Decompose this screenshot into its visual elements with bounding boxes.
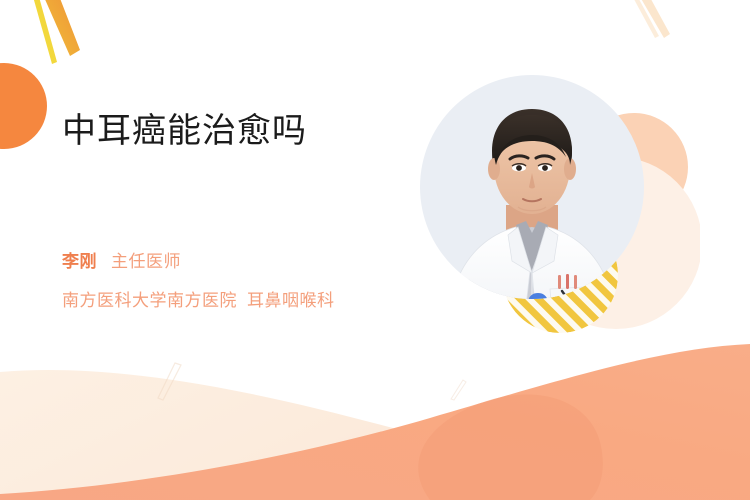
doctor-department: 耳鼻咽喉科 <box>247 291 335 310</box>
wave-salmon-lobe <box>418 394 603 500</box>
orange-circle-left <box>0 63 47 149</box>
top-left-stripes <box>30 0 80 64</box>
page-title: 中耳癌能治愈吗 <box>62 110 462 153</box>
doctor-question-card: 中耳癌能治愈吗 李刚主任医师 南方医科大学南方医院耳鼻咽喉科 <box>0 0 750 500</box>
doctor-portrait-group <box>420 75 700 365</box>
doctor-hospital: 南方医科大学南方医院 <box>62 291 237 310</box>
doctor-affiliation-line: 南方医科大学南方医院耳鼻咽喉科 <box>62 287 335 315</box>
doctor-info-block: 李刚主任医师 南方医科大学南方医院耳鼻咽喉科 <box>62 248 335 315</box>
doctor-portrait <box>420 75 700 365</box>
doctor-title: 主任医师 <box>111 252 181 271</box>
doctor-name-line: 李刚主任医师 <box>62 248 335 276</box>
bottom-faint-stripe-2 <box>451 380 466 400</box>
doctor-name: 李刚 <box>62 252 97 271</box>
question-title-block: 中耳癌能治愈吗 <box>62 110 462 153</box>
top-right-stripes <box>629 0 670 38</box>
